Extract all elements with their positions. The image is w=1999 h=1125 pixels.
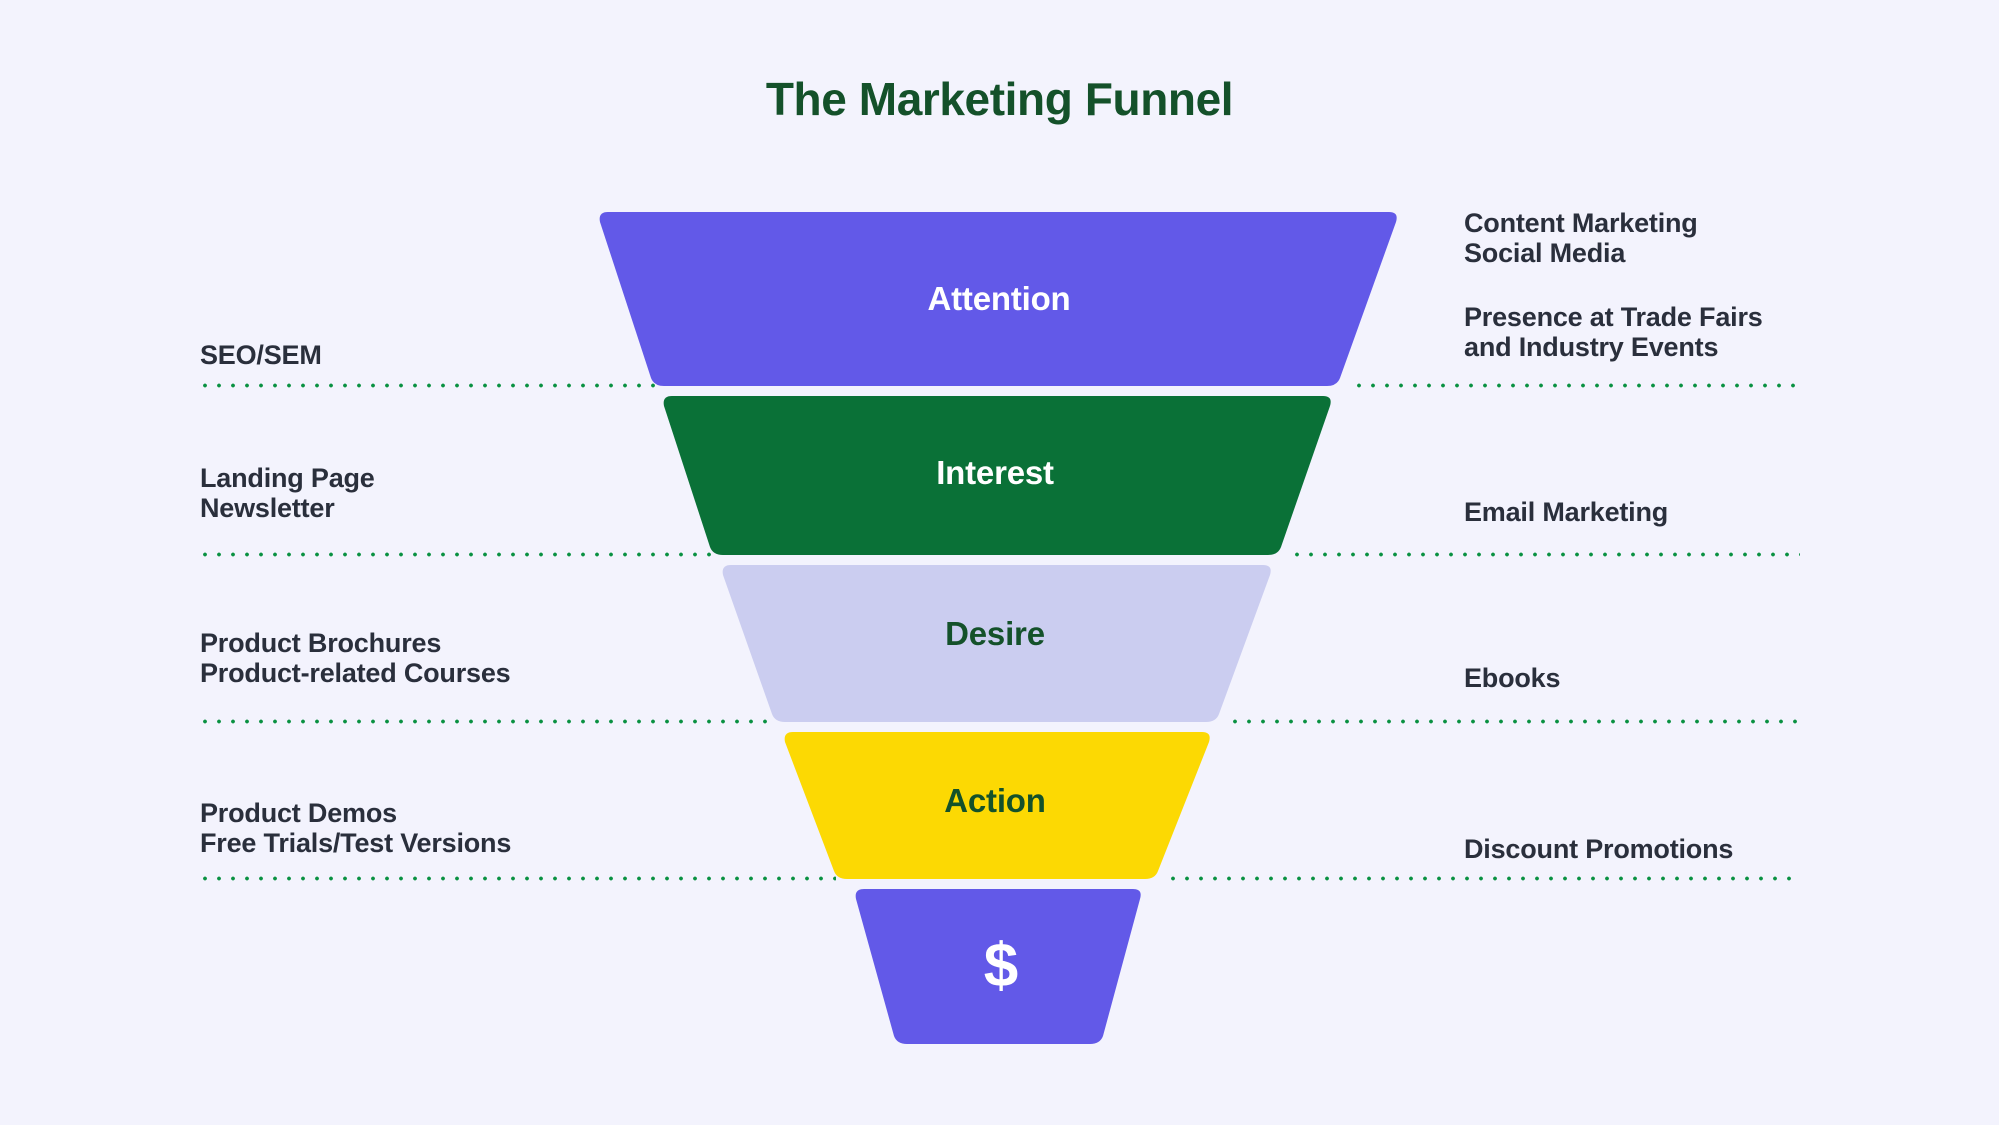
annotation-line: Product Demos: [200, 798, 511, 828]
annotation-content-marketing: Content Marketing Social Media: [1464, 208, 1698, 268]
annotation-line: Presence at Trade Fairs: [1464, 302, 1763, 332]
funnel-label-attention: Attention: [928, 280, 1071, 318]
annotation-line: Social Media: [1464, 238, 1698, 268]
annotation-ebooks: Ebooks: [1464, 663, 1560, 693]
annotation-landing-page: Landing Page Newsletter: [200, 463, 375, 523]
annotation-line: Landing Page: [200, 463, 375, 493]
funnel-label-desire: Desire: [945, 615, 1045, 653]
divider-action-right: [1166, 876, 1800, 881]
page-title: The Marketing Funnel: [0, 72, 1999, 126]
divider-desire-left: [198, 719, 776, 724]
annotation-line: Ebooks: [1464, 663, 1560, 693]
annotation-line: Content Marketing: [1464, 208, 1698, 238]
divider-interest-right: [1290, 552, 1800, 557]
divider-action-left: [198, 876, 836, 881]
divider-attention-left: [198, 383, 658, 388]
annotation-seo-sem: SEO/SEM: [200, 340, 322, 370]
divider-interest-left: [198, 552, 716, 557]
marketing-funnel-infographic: The Marketing Funnel Attention Interest …: [0, 0, 1999, 1125]
annotation-product-demos: Product Demos Free Trials/Test Versions: [200, 798, 511, 858]
annotation-line: SEO/SEM: [200, 340, 322, 370]
divider-attention-right: [1352, 383, 1800, 388]
annotation-trade-fairs: Presence at Trade Fairs and Industry Eve…: [1464, 302, 1763, 362]
annotation-line: Product-related Courses: [200, 658, 510, 688]
annotation-line: Free Trials/Test Versions: [200, 828, 511, 858]
funnel-label-action: Action: [944, 782, 1045, 820]
annotation-line: Newsletter: [200, 493, 375, 523]
dollar-sign-icon: $: [984, 931, 1018, 1002]
funnel-label-interest: Interest: [936, 454, 1054, 492]
divider-desire-right: [1228, 719, 1800, 724]
annotation-line: and Industry Events: [1464, 332, 1763, 362]
annotation-line: Product Brochures: [200, 628, 510, 658]
annotation-line: Email Marketing: [1464, 497, 1668, 527]
annotation-discount-promotions: Discount Promotions: [1464, 834, 1733, 864]
annotation-product-brochures: Product Brochures Product-related Course…: [200, 628, 510, 688]
annotation-line: Discount Promotions: [1464, 834, 1733, 864]
annotation-email-marketing: Email Marketing: [1464, 497, 1668, 527]
